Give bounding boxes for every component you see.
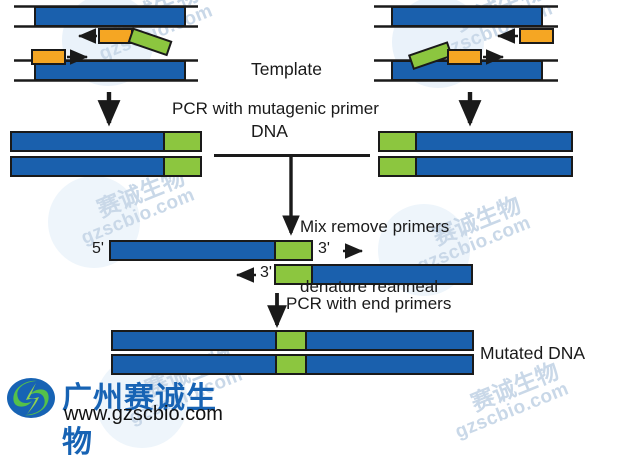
- pcr-product-right: [379, 132, 572, 176]
- label-pcr-mutagenic: PCR with mutagenic primer: [172, 99, 379, 119]
- dna-strand-blue: [112, 331, 276, 350]
- mutation-green-tag: [379, 157, 416, 176]
- mutation-green-tag: [129, 29, 171, 55]
- label-3-prime-top: 3': [318, 240, 330, 259]
- dna-strand-blue: [112, 355, 276, 374]
- label-3-prime-bottom: 3': [260, 264, 272, 283]
- company-logo: 广州赛诚生物 www.gzscbio.com: [6, 374, 236, 426]
- dna-strand-blue: [35, 7, 185, 26]
- label-template-dna-line2: DNA: [251, 121, 322, 142]
- label-pcr-end-primers: PCR with end primers: [286, 294, 451, 314]
- mutation-green-tag: [164, 157, 201, 176]
- primer-orange: [32, 50, 65, 64]
- dna-strand-blue: [416, 132, 572, 151]
- dna-strand-blue: [11, 132, 164, 151]
- primer-orange: [99, 29, 132, 43]
- primer-orange: [520, 29, 553, 43]
- label-mutated-dna: Mutated DNA: [480, 343, 585, 364]
- dna-strand-blue: [11, 157, 164, 176]
- dna-strand-blue: [306, 355, 473, 374]
- pcr-product-left: [11, 132, 201, 176]
- dna-strand-blue: [416, 157, 572, 176]
- primer-orange: [448, 50, 481, 64]
- label-5-prime: 5': [92, 240, 104, 259]
- swoosh-s-logo-icon: [6, 376, 56, 420]
- mutation-green-tag: [379, 132, 416, 151]
- mutated-dna-duplex: [112, 331, 473, 374]
- label-mix-line1: Mix remove primers: [300, 217, 449, 237]
- dna-strand-blue: [392, 7, 542, 26]
- label-template-dna-line1: Template: [251, 59, 322, 80]
- mutation-green-tag: [164, 132, 201, 151]
- mutation-green-tag: [276, 355, 306, 374]
- template-left-panel: [14, 7, 198, 81]
- figure-canvas: gzscbio.com 赛诚生物 gzscbio.com 赛诚生物 gzscbi…: [0, 0, 630, 434]
- dna-strand-blue: [110, 241, 275, 260]
- logo-website: www.gzscbio.com: [64, 403, 223, 426]
- template-right-panel: [374, 7, 558, 81]
